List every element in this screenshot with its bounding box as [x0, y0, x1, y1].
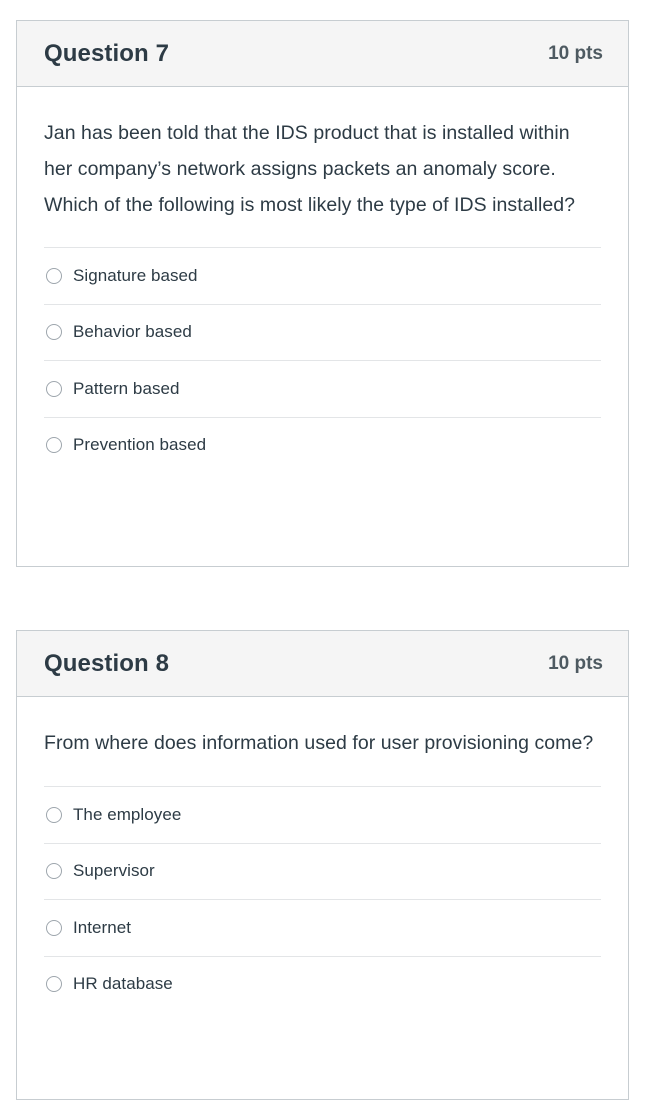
question-points: 10 pts	[548, 44, 603, 63]
answer-options-list: The employee Supervisor Internet HR data…	[44, 786, 601, 1043]
question-card: Question 8 10 pts From where does inform…	[16, 630, 629, 1100]
question-prompt-text: From where does information used for use…	[44, 697, 600, 786]
radio-button-icon[interactable]	[46, 437, 62, 453]
question-prompt-text: Jan has been told that the IDS product t…	[44, 87, 600, 247]
question-header: Question 7 10 pts	[17, 21, 628, 87]
answers-bottom-spacer	[44, 473, 601, 504]
quiz-page: Question 7 10 pts Jan has been told that…	[0, 0, 649, 1120]
question-card: Question 7 10 pts Jan has been told that…	[16, 20, 629, 567]
answer-option[interactable]: Behavior based	[44, 304, 601, 361]
question-points: 10 pts	[548, 654, 603, 673]
answer-option[interactable]: Supervisor	[44, 843, 601, 900]
question-header: Question 8 10 pts	[17, 631, 628, 697]
radio-button-icon[interactable]	[46, 381, 62, 397]
question-body: Jan has been told that the IDS product t…	[17, 87, 628, 504]
answer-option-label: Internet	[73, 918, 131, 938]
answer-options-list: Signature based Behavior based Pattern b…	[44, 247, 601, 504]
answer-option-label: Signature based	[73, 266, 198, 286]
radio-button-icon[interactable]	[46, 324, 62, 340]
radio-button-icon[interactable]	[46, 807, 62, 823]
answer-option[interactable]: HR database	[44, 956, 601, 1013]
answer-option-label: The employee	[73, 805, 181, 825]
answer-option-label: Behavior based	[73, 322, 192, 342]
question-body: From where does information used for use…	[17, 697, 628, 1043]
radio-button-icon[interactable]	[46, 863, 62, 879]
answers-bottom-spacer	[44, 1012, 601, 1043]
answer-option[interactable]: The employee	[44, 786, 601, 843]
answer-option-label: Supervisor	[73, 861, 155, 881]
radio-button-icon[interactable]	[46, 268, 62, 284]
answer-option[interactable]: Prevention based	[44, 417, 601, 474]
question-title: Question 7	[44, 42, 169, 66]
answer-option-label: Prevention based	[73, 435, 206, 455]
answer-option[interactable]: Pattern based	[44, 360, 601, 417]
question-title: Question 8	[44, 652, 169, 676]
radio-button-icon[interactable]	[46, 976, 62, 992]
radio-button-icon[interactable]	[46, 920, 62, 936]
answer-option-label: Pattern based	[73, 379, 180, 399]
answer-option[interactable]: Internet	[44, 899, 601, 956]
answer-option[interactable]: Signature based	[44, 247, 601, 304]
answer-option-label: HR database	[73, 974, 173, 994]
